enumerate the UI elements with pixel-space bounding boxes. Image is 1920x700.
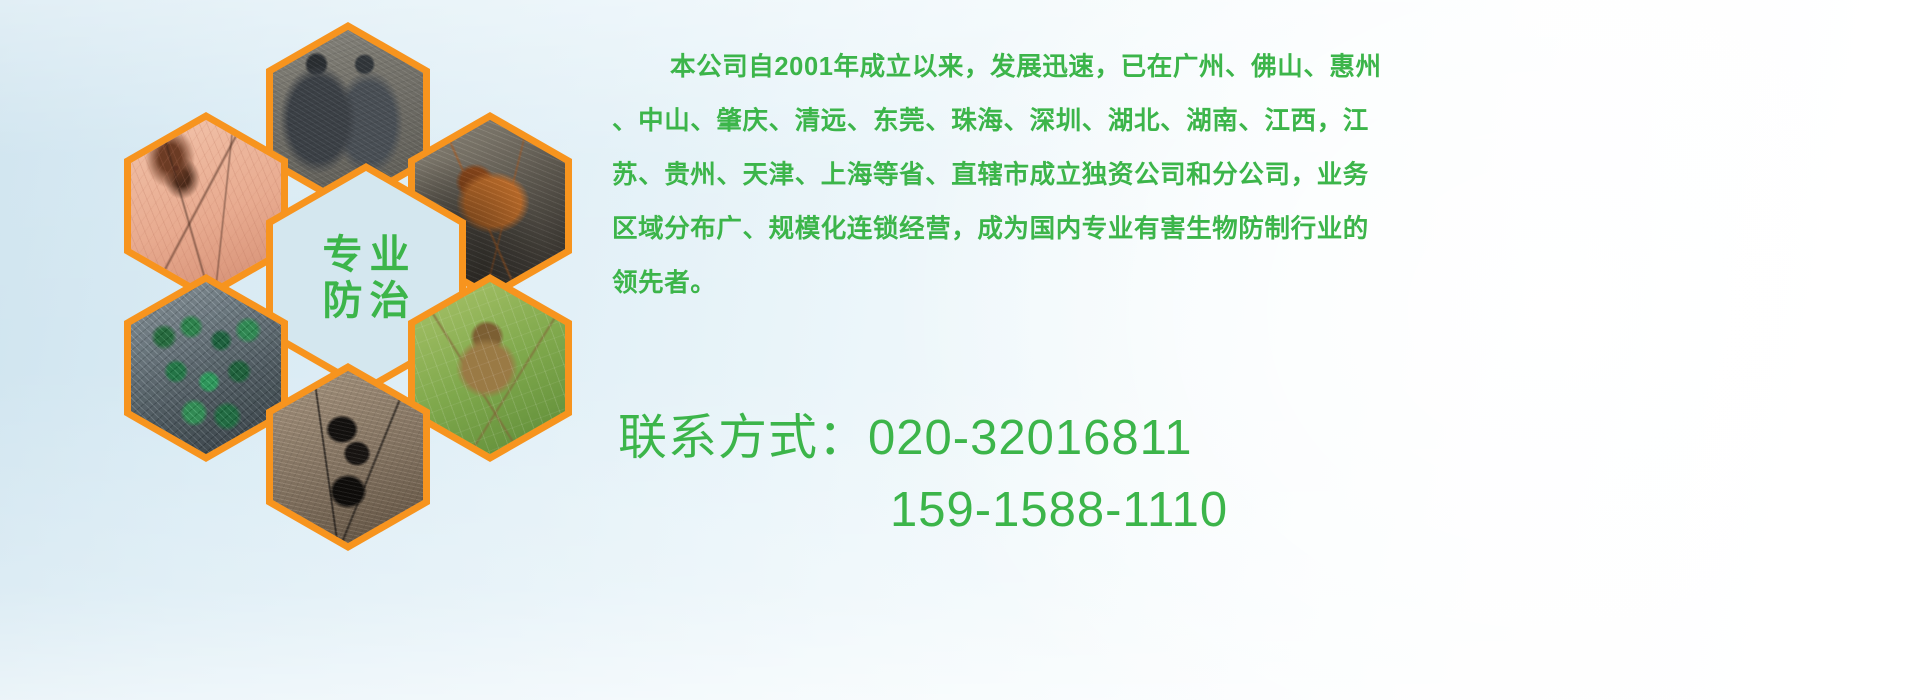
hex-cell-flies[interactable]	[124, 274, 288, 462]
intro-line: 区域分布广、规模化连锁经营，成为国内专业有害生物防制行业的	[612, 202, 1342, 256]
intro-line: 领先者。	[612, 256, 1342, 310]
intro-line: 、中山、肇庆、清远、东莞、珠海、深圳、湖北、湖南、江西，江	[612, 94, 1342, 148]
contact-primary-phone[interactable]: 联系方式：020-32016811	[618, 402, 1378, 474]
contact-secondary-phone[interactable]: 159-1588-1110	[618, 474, 1378, 546]
contact-block: 联系方式：020-32016811 159-1588-1110	[618, 402, 1378, 546]
promo-banner: 专业 防治 本公司自2001年成立以来，发展迅速，已在	[0, 0, 1920, 700]
hex-cell-mosquito[interactable]	[124, 112, 288, 300]
company-intro-paragraph: 本公司自2001年成立以来，发展迅速，已在广州、佛山、惠州 、中山、肇庆、清远、…	[612, 40, 1342, 310]
honeycomb-cluster: 专业 防治	[88, 8, 588, 568]
hex-cell-stinkbug[interactable]	[408, 274, 572, 462]
honeycomb-label-line1: 专业	[316, 235, 417, 275]
hex-cell-ant[interactable]	[266, 363, 430, 551]
honeycomb-label-line2: 防治	[316, 281, 417, 321]
intro-line: 本公司自2001年成立以来，发展迅速，已在广州、佛山、惠州	[612, 40, 1342, 94]
intro-line: 苏、贵州、天津、上海等省、直辖市成立独资公司和分公司，业务	[612, 148, 1342, 202]
